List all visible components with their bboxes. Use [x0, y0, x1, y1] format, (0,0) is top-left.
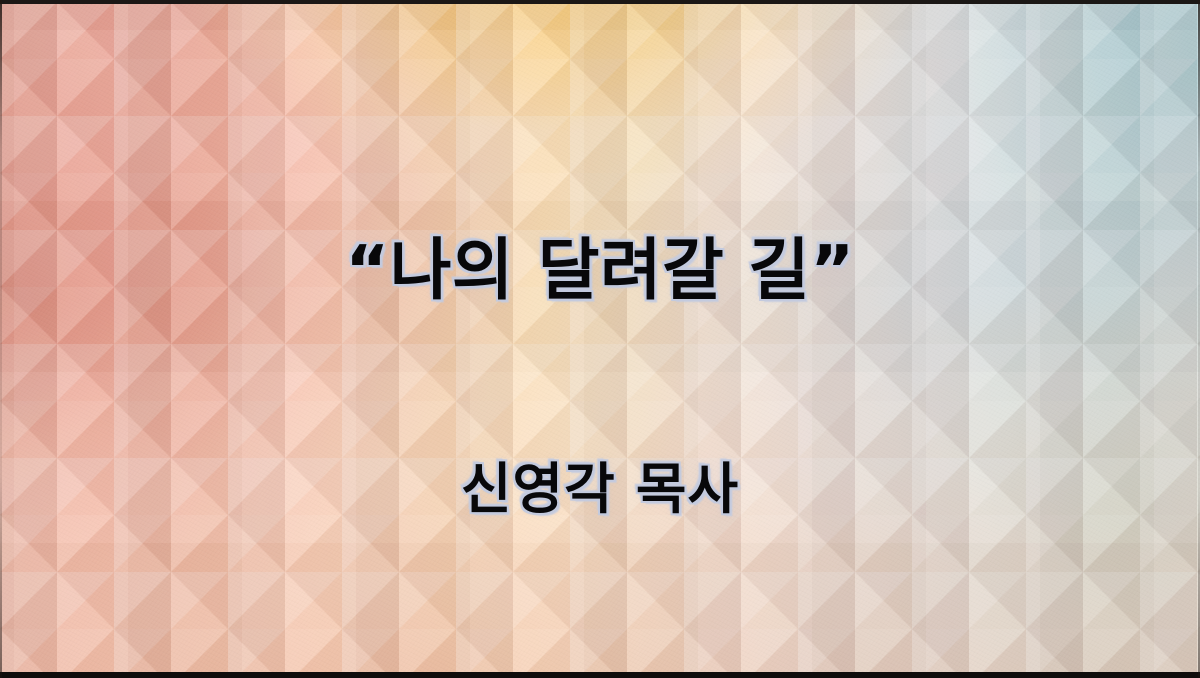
- slide-title: “나의 달려갈 길”: [0, 237, 1200, 304]
- presentation-slide: “나의 달려갈 길” 신영각 목사: [0, 0, 1200, 678]
- slide-subtitle-speaker: 신영각 목사: [0, 462, 1200, 517]
- slide-content: “나의 달려갈 길” 신영각 목사: [0, 0, 1200, 678]
